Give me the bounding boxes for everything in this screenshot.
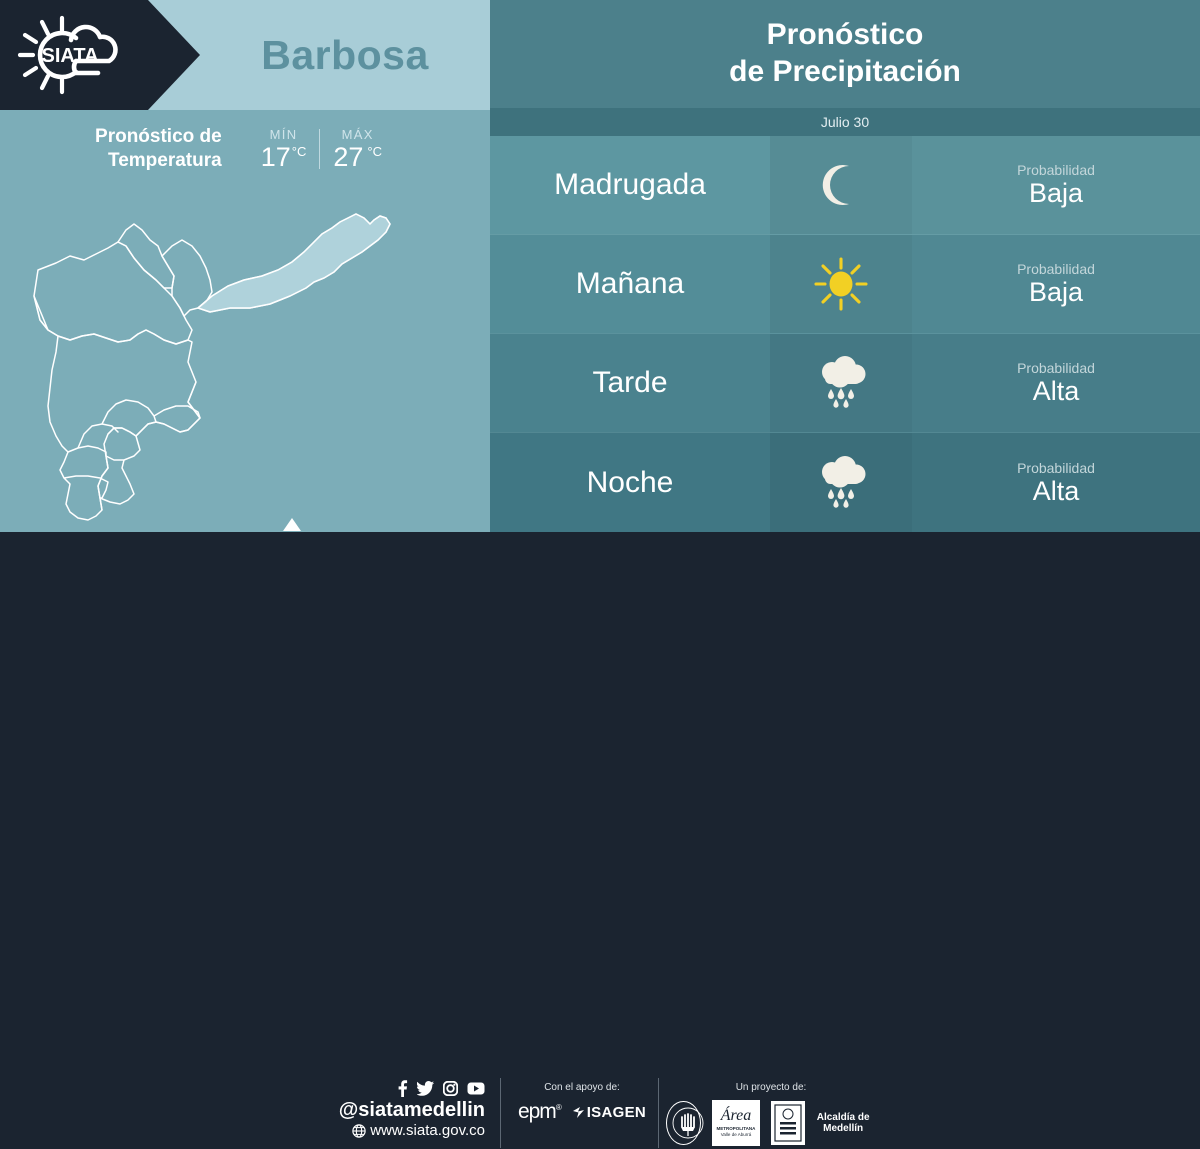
temperature-title: Pronóstico de Temperatura bbox=[95, 125, 222, 173]
alcaldia-logo: Alcaldía de Medellín bbox=[771, 1101, 876, 1145]
footer: @siatamedellin www.siata.gov.co Con el a… bbox=[0, 532, 1200, 630]
temperature-title-line2: Temperatura bbox=[95, 149, 222, 173]
moon-icon bbox=[815, 159, 867, 211]
social-handle[interactable]: @siatamedellin bbox=[300, 1099, 485, 1122]
forecast-period-cell: Mañana bbox=[490, 235, 770, 333]
weather-forecast-card: SIATA Barbosa Pronóstico de Temperatura … bbox=[0, 0, 1200, 630]
youtube-icon[interactable] bbox=[467, 1082, 485, 1095]
support-caption: Con el apoyo de: bbox=[512, 1082, 652, 1093]
forecast-row[interactable]: Mañana bbox=[490, 235, 1200, 334]
forecast-icon-cell bbox=[770, 433, 912, 532]
forecast-icon-cell bbox=[770, 235, 912, 333]
left-panel: SIATA Barbosa Pronóstico de Temperatura … bbox=[0, 0, 490, 532]
city-name: Barbosa bbox=[200, 0, 490, 110]
forecast-row[interactable]: Tarde bbox=[490, 334, 1200, 433]
temperature-max: MÁX 27°C bbox=[320, 127, 395, 171]
probability-value: Alta bbox=[1033, 477, 1080, 505]
highlighted-municipality bbox=[198, 214, 390, 312]
sun-cloud-icon: SIATA bbox=[14, 14, 134, 96]
probability-value: Baja bbox=[1029, 179, 1083, 207]
sun-icon bbox=[812, 255, 870, 313]
udea-seal-logo bbox=[666, 1101, 701, 1145]
temperature-min-value: 17°C bbox=[261, 144, 307, 171]
temperature-min-unit: °C bbox=[292, 144, 307, 159]
alcaldia-mark-icon bbox=[771, 1101, 805, 1145]
forecast-row[interactable]: Noche bbox=[490, 433, 1200, 532]
forecast-period-cell: Noche bbox=[490, 433, 770, 532]
rain-cloud-icon bbox=[812, 456, 870, 510]
temperature-values: MÍN 17°C MÁX 27°C bbox=[248, 127, 395, 171]
forecast-period-label: Madrugada bbox=[554, 168, 706, 202]
support-logos: epm® ISAGEN bbox=[512, 1100, 652, 1124]
forecast-probability-cell: Probabilidad Alta bbox=[912, 433, 1200, 532]
isagen-logo: ISAGEN bbox=[572, 1104, 646, 1121]
forecast-title-line2: de Precipitación bbox=[729, 54, 961, 91]
area-sub2: Valle de Aburrá bbox=[721, 1132, 751, 1138]
siata-logo-text: SIATA bbox=[41, 45, 98, 67]
support-block: Con el apoyo de: epm® ISAGEN bbox=[512, 1082, 652, 1124]
footer-divider bbox=[500, 1078, 501, 1148]
project-logos: Área METROPOLITANA Valle de Aburrá bbox=[666, 1100, 876, 1146]
forecast-period-cell: Madrugada bbox=[490, 136, 770, 234]
temperature-block: Pronóstico de Temperatura MÍN 17°C MÁX 2… bbox=[0, 110, 490, 188]
project-block: Un proyecto de: Área METROPOLITANA Valle… bbox=[666, 1082, 876, 1146]
probability-label: Probabilidad bbox=[1017, 460, 1095, 476]
area-metropolitana-logo: Área METROPOLITANA Valle de Aburrá bbox=[712, 1100, 761, 1146]
rain-cloud-icon bbox=[812, 356, 870, 410]
forecast-period-cell: Tarde bbox=[490, 334, 770, 432]
project-caption: Un proyecto de: bbox=[666, 1082, 876, 1093]
epm-logo: epm® bbox=[518, 1100, 561, 1124]
forecast-row[interactable]: Madrugada Probabilidad Baja bbox=[490, 136, 1200, 235]
website-link[interactable]: www.siata.gov.co bbox=[300, 1122, 485, 1139]
probability-label: Probabilidad bbox=[1017, 162, 1095, 178]
twitter-icon[interactable] bbox=[417, 1081, 434, 1096]
forecast-title-line1: Pronóstico bbox=[767, 17, 924, 54]
footer-divider bbox=[658, 1078, 659, 1148]
forecast-period-label: Tarde bbox=[592, 366, 667, 400]
aburra-valley-map bbox=[22, 184, 422, 534]
temperature-divider bbox=[319, 129, 320, 169]
forecast-probability-cell: Probabilidad Baja bbox=[912, 235, 1200, 333]
forecast-date: Julio 30 bbox=[490, 108, 1200, 136]
alcaldia-crest-icon bbox=[772, 1102, 804, 1144]
social-icons bbox=[300, 1080, 485, 1097]
forecast-icon-cell bbox=[770, 334, 912, 432]
probability-label: Probabilidad bbox=[1017, 261, 1095, 277]
temperature-min: MÍN 17°C bbox=[248, 127, 320, 171]
forecast-icon-cell bbox=[770, 136, 912, 234]
forecast-title: Pronóstico de Precipitación bbox=[490, 0, 1200, 108]
temperature-max-value: 27°C bbox=[333, 144, 382, 171]
forecast-panel: Pronóstico de Precipitación Julio 30 Mad… bbox=[490, 0, 1200, 532]
facebook-icon[interactable] bbox=[397, 1080, 408, 1097]
temperature-min-label: MÍN bbox=[270, 127, 298, 142]
instagram-icon[interactable] bbox=[443, 1081, 458, 1096]
temperature-max-unit: °C bbox=[367, 144, 382, 159]
forecast-probability-cell: Probabilidad Alta bbox=[912, 334, 1200, 432]
probability-value: Alta bbox=[1033, 377, 1080, 405]
website-text: www.siata.gov.co bbox=[370, 1122, 485, 1139]
probability-value: Baja bbox=[1029, 278, 1083, 306]
forecast-period-label: Noche bbox=[587, 466, 674, 500]
region-map: N bbox=[0, 188, 490, 532]
globe-icon bbox=[352, 1124, 366, 1138]
temperature-title-line1: Pronóstico de bbox=[95, 125, 222, 149]
social-block: @siatamedellin www.siata.gov.co bbox=[300, 1080, 485, 1139]
forecast-rows: Madrugada Probabilidad Baja Mañana bbox=[490, 136, 1200, 532]
udea-seal-mark-icon bbox=[668, 1103, 708, 1143]
isagen-mark-icon bbox=[572, 1106, 585, 1119]
temperature-max-label: MÁX bbox=[342, 127, 374, 142]
forecast-period-label: Mañana bbox=[576, 267, 684, 301]
probability-label: Probabilidad bbox=[1017, 360, 1095, 376]
forecast-probability-cell: Probabilidad Baja bbox=[912, 136, 1200, 234]
